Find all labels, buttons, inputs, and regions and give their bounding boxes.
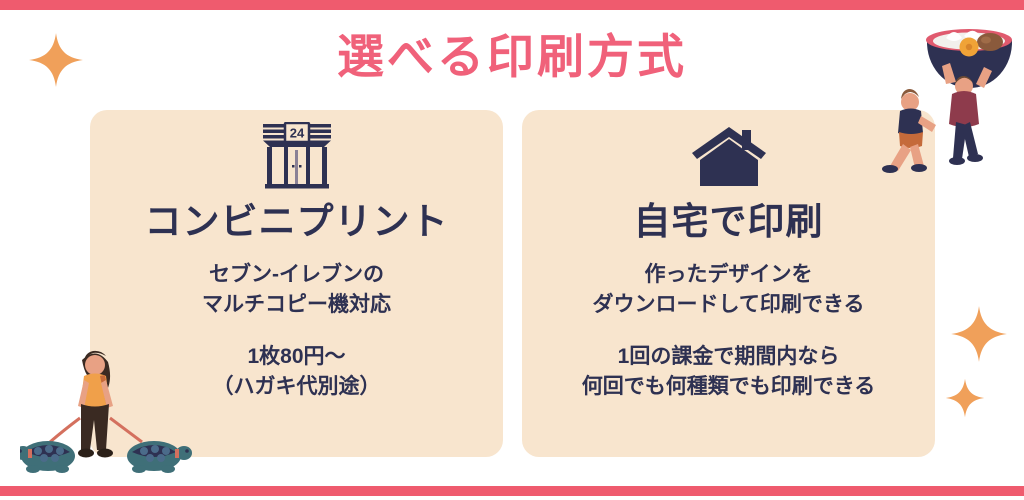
page-title: 選べる印刷方式 xyxy=(0,28,1024,86)
icon-wrap-right xyxy=(691,122,767,194)
person-carrying-soup-bowl-illustration xyxy=(872,10,1022,195)
terms-line: 何回でも何種類でも印刷できる xyxy=(582,372,876,402)
sparkle-right-small xyxy=(945,378,985,423)
body-line: ダウンロードして印刷できる xyxy=(593,290,865,320)
sparkle-top-left xyxy=(28,32,84,93)
body-line: 作ったデザインを xyxy=(593,260,865,290)
house-icon xyxy=(691,122,767,195)
top-pink-rule xyxy=(0,0,1024,10)
card-body-konbini-primary: セブン-イレブンの マルチコピー機対応 xyxy=(202,260,391,320)
card-body-home-terms: 1回の課金で期間内なら 何回でも何種類でも印刷できる xyxy=(582,342,876,402)
card-title-konbini: コンビニプリント xyxy=(145,200,449,244)
woman-walking-turtles-illustration xyxy=(20,338,210,491)
store-sign-number: 24 xyxy=(289,125,304,140)
price-line: 1枚80円〜 xyxy=(213,342,381,372)
card-body-home-primary: 作ったデザインを ダウンロードして印刷できる xyxy=(593,260,865,320)
terms-line: 1回の課金で期間内なら xyxy=(582,342,876,372)
card-title-home: 自宅で印刷 xyxy=(634,200,824,244)
card-body-konbini-price: 1枚80円〜 （ハガキ代別途） xyxy=(213,342,381,402)
price-note-line: （ハガキ代別途） xyxy=(213,372,381,402)
body-line: セブン-イレブンの xyxy=(202,260,391,290)
body-line: マルチコピー機対応 xyxy=(202,290,391,320)
icon-wrap-left: 24 xyxy=(260,122,334,194)
poster-canvas: 選べる印刷方式 xyxy=(0,0,1024,500)
convenience-store-icon: 24 xyxy=(260,122,334,195)
sparkle-right-large xyxy=(950,305,1008,368)
